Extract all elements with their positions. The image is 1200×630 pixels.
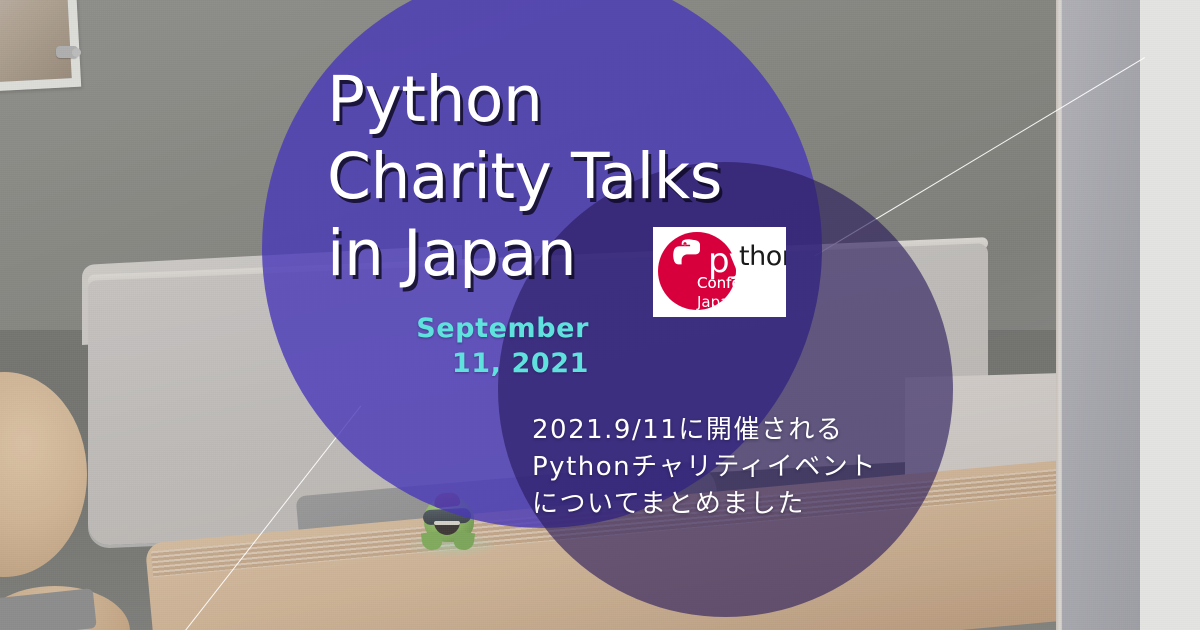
python-snake-icon <box>670 238 712 278</box>
card-content: Python Charity Talks in Japan September … <box>0 0 1200 630</box>
event-date: September 11, 2021 <box>327 312 589 381</box>
logo-thon-text: thon <box>739 243 786 270</box>
logo-japan-text: Japan <box>697 295 739 310</box>
social-card: Python Charity Talks in Japan September … <box>0 0 1200 630</box>
logo-conference-text: Conference <box>697 276 783 291</box>
pycon-jp-logo: py thon Conference Japan <box>653 227 786 317</box>
event-description: 2021.9/11に開催される Pythonチャリティイベント についてまとめま… <box>532 412 952 523</box>
